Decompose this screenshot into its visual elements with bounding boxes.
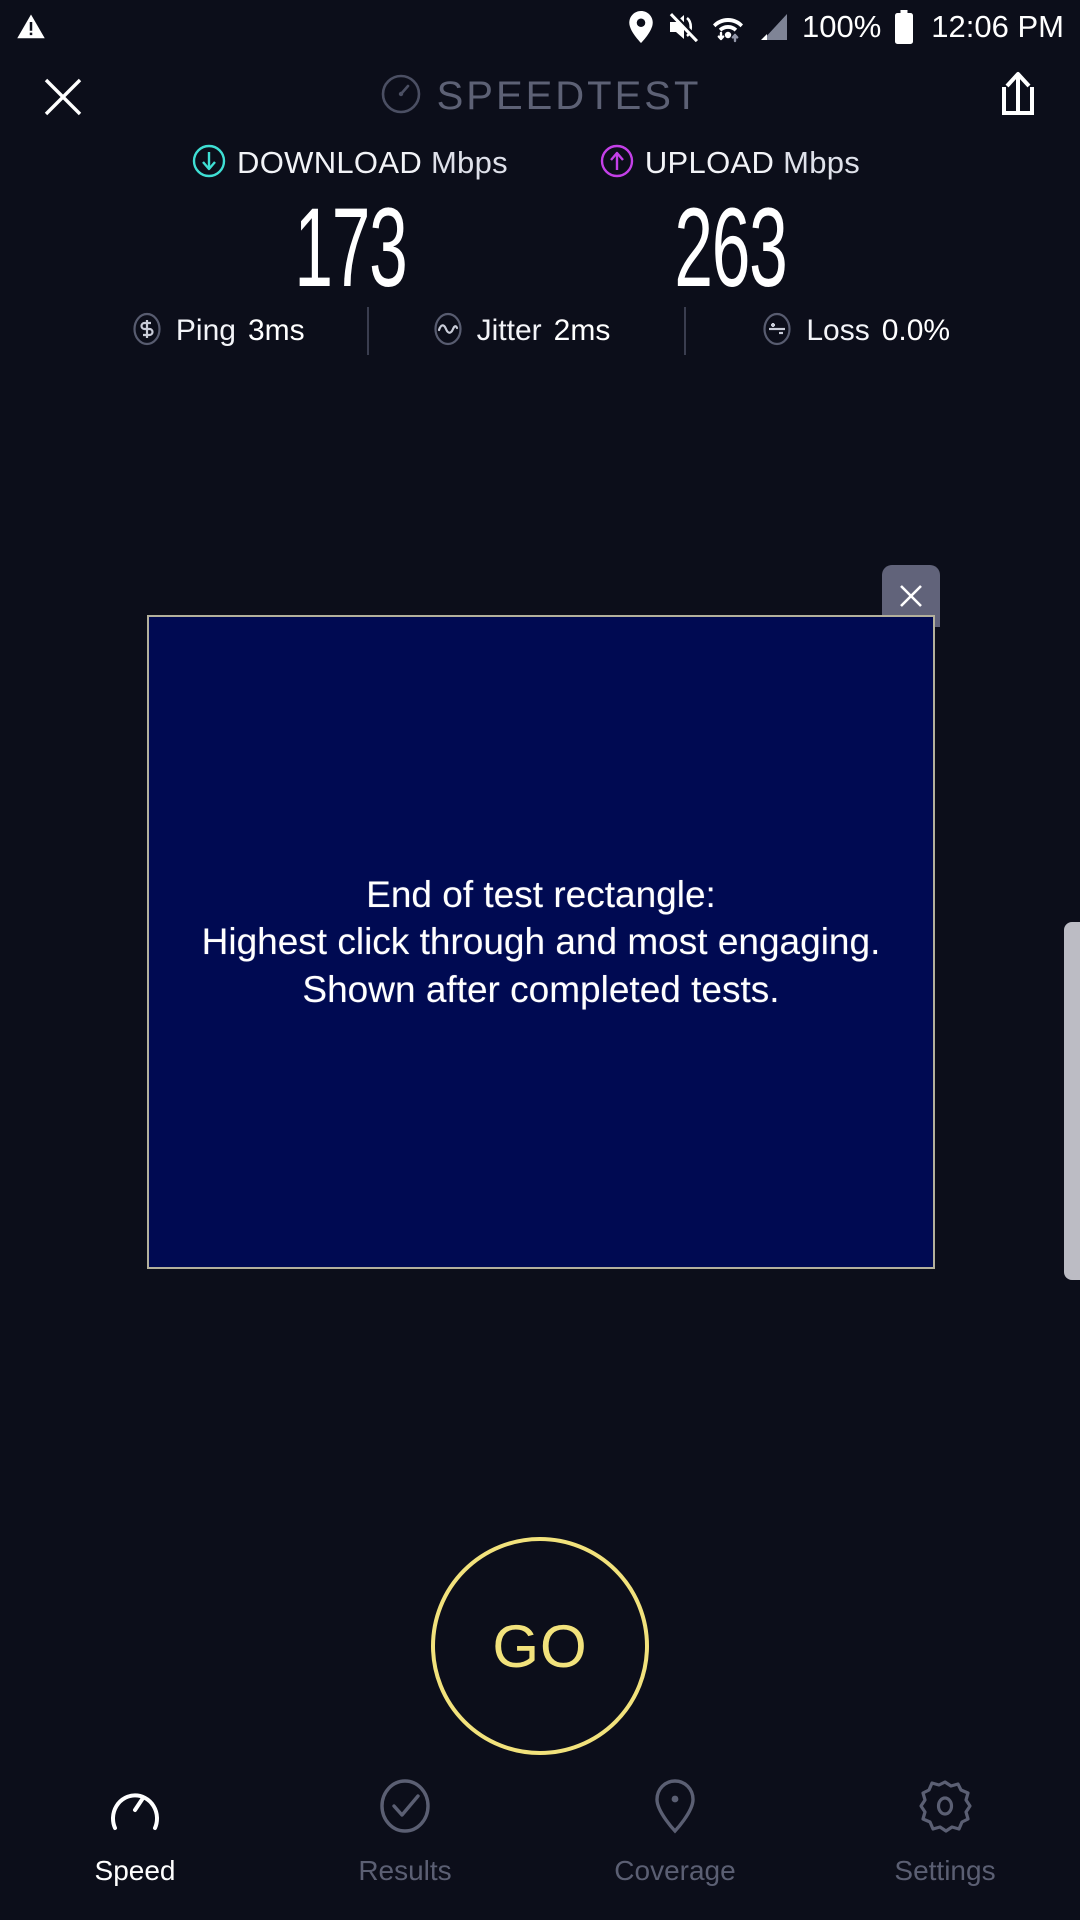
battery-full-icon (894, 10, 914, 44)
ad-line-3: Shown after completed tests. (202, 966, 881, 1013)
share-icon[interactable] (996, 69, 1040, 124)
ad-line-1: End of test rectangle: (202, 871, 881, 918)
warning-triangle-icon (16, 12, 46, 42)
jitter-value: 2ms (554, 314, 611, 348)
jitter-icon (431, 312, 465, 351)
ping-value: 3ms (248, 314, 305, 348)
ping-label: Ping (176, 314, 236, 348)
arrow-up-circle-icon (600, 144, 634, 183)
check-circle-icon (375, 1776, 435, 1841)
nav-item-speed[interactable]: Speed (0, 1776, 270, 1887)
location-pin-icon (645, 1776, 705, 1841)
loss-value: 0.0% (882, 314, 950, 348)
close-test-button[interactable] (40, 74, 86, 120)
status-bar-left (16, 12, 46, 42)
arrow-down-circle-icon (192, 144, 226, 183)
status-bar: 100% 12:06 PM (0, 0, 1080, 54)
volume-muted-icon (667, 12, 699, 42)
speedtest-app-screen: 100% 12:06 PM (0, 0, 1080, 1920)
page-scrollbar[interactable] (1064, 922, 1080, 1280)
go-button-label: GO (492, 1612, 587, 1681)
nav-label-speed: Speed (95, 1855, 176, 1887)
stat-divider (684, 307, 686, 355)
connection-stats: Ping 3ms Jitter 2ms (0, 300, 1080, 362)
speedometer-icon (379, 72, 423, 121)
status-bar-right: 100% 12:06 PM (628, 9, 1064, 45)
stat-divider (367, 307, 369, 355)
loss-stat: Loss 0.0% (738, 312, 972, 351)
jitter-label: Jitter (477, 314, 542, 348)
cellular-signal-icon (757, 12, 789, 42)
upload-metric: UPLOAD Mbps 263 (540, 140, 920, 304)
results-summary: DOWNLOAD Mbps 173 UPLOAD Mbps 263 (0, 140, 1080, 304)
clock-label: 12:06 PM (931, 9, 1064, 45)
location-pin-icon (628, 11, 654, 43)
ping-stat: Ping 3ms (108, 312, 327, 351)
go-button[interactable]: GO (431, 1537, 649, 1755)
download-label-group: DOWNLOAD Mbps (192, 140, 508, 186)
close-icon (896, 581, 926, 611)
app-brand: SPEEDTEST (0, 54, 1080, 139)
speedometer-icon (105, 1776, 165, 1841)
ping-icon (130, 312, 164, 351)
jitter-stat: Jitter 2ms (409, 312, 633, 351)
loss-label: Loss (806, 314, 869, 348)
gear-icon (915, 1776, 975, 1841)
metric-row: DOWNLOAD Mbps 173 UPLOAD Mbps 263 (0, 140, 1080, 304)
nav-item-settings[interactable]: Settings (810, 1776, 1080, 1887)
upload-label-group: UPLOAD Mbps (600, 140, 860, 186)
app-title: SPEEDTEST (437, 74, 702, 119)
nav-label-results: Results (358, 1855, 451, 1887)
ad-text: End of test rectangle: Highest click thr… (202, 871, 881, 1013)
download-value: 173 (294, 192, 406, 304)
loss-icon (760, 312, 794, 351)
upload-label: UPLOAD Mbps (645, 145, 860, 181)
nav-item-results[interactable]: Results (270, 1776, 540, 1887)
battery-percent-label: 100% (802, 9, 881, 45)
download-label: DOWNLOAD Mbps (237, 145, 508, 181)
ad-line-2: Highest click through and most engaging. (202, 918, 881, 965)
nav-item-coverage[interactable]: Coverage (540, 1776, 810, 1887)
upload-value: 263 (674, 192, 786, 304)
bottom-navigation: Speed Results Coverage (0, 1762, 1080, 1920)
nav-label-settings: Settings (894, 1855, 995, 1887)
wifi-icon (712, 11, 744, 43)
nav-label-coverage: Coverage (614, 1855, 735, 1887)
download-metric: DOWNLOAD Mbps 173 (160, 140, 540, 304)
advertisement-banner[interactable]: End of test rectangle: Highest click thr… (147, 615, 935, 1269)
app-header: SPEEDTEST (0, 54, 1080, 139)
